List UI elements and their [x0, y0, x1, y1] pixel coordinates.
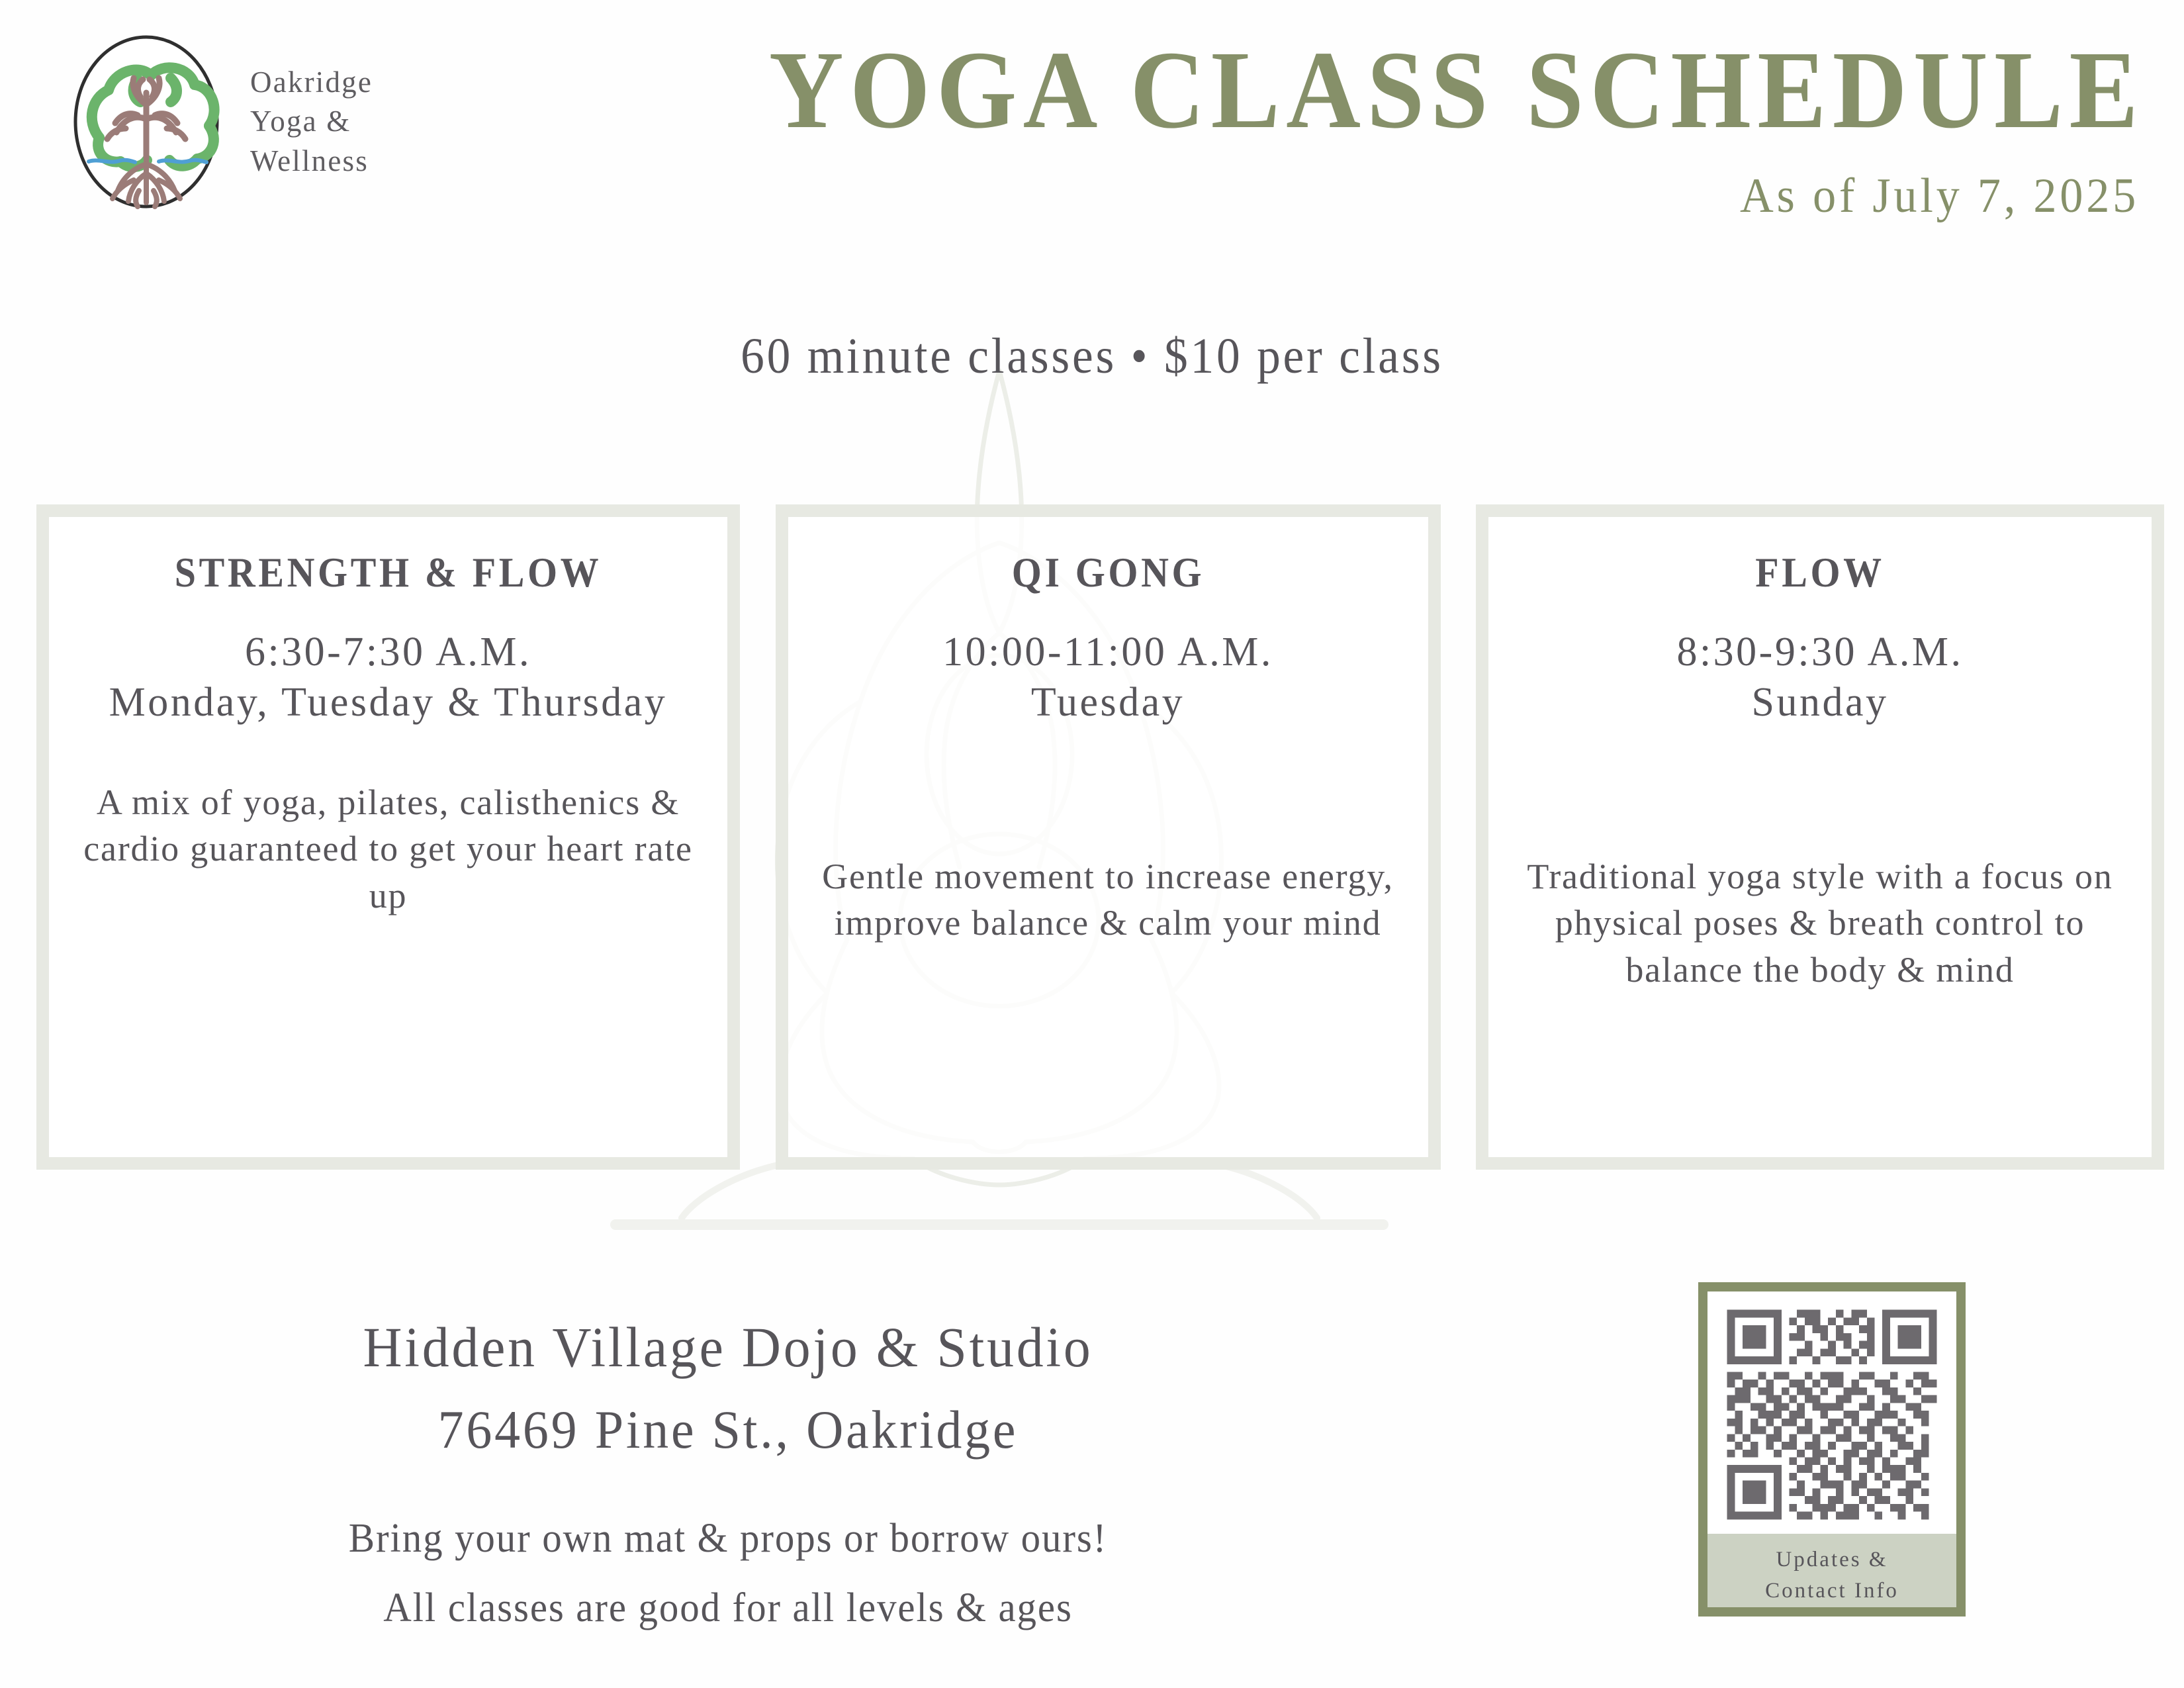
footer-note-mat: Bring your own mat & props or borrow our…	[112, 1515, 1344, 1562]
class-title: STRENGTH & FLOW	[97, 549, 679, 597]
brand-name-line-2: Yoga &	[250, 102, 373, 141]
tagline: 60 minute classes • $10 per class	[66, 328, 2118, 385]
qr-code-block[interactable]: Updates & Contact Info	[1698, 1282, 1966, 1617]
class-card-flow: FLOW 8:30-9:30 A.M. Sunday Traditional y…	[1476, 504, 2164, 1170]
brand-name-line-1: Oakridge	[250, 63, 373, 102]
class-time-range: 10:00-11:00 A.M.	[811, 628, 1406, 678]
brand-logo: Oakridge Yoga & Wellness	[60, 32, 373, 212]
brand-name-line-3: Wellness	[250, 142, 373, 181]
class-time-range: 6:30-7:30 A.M.	[71, 628, 705, 678]
class-time-range: 8:30-9:30 A.M.	[1511, 628, 2129, 678]
title-block: YOGA CLASS SCHEDULE As of July 7, 2025	[622, 34, 2144, 224]
class-days: Monday, Tuesday & Thursday	[71, 678, 705, 728]
qr-caption-line-1: Updates &	[1707, 1544, 1956, 1575]
footer-note-levels: All classes are good for all levels & ag…	[112, 1585, 1344, 1632]
class-card-strength-and-flow: STRENGTH & FLOW 6:30-7:30 A.M. Monday, T…	[36, 504, 740, 1170]
class-description: Traditional yoga style with a focus on p…	[1511, 853, 2129, 993]
class-title: QI GONG	[834, 549, 1381, 597]
qr-caption-line-2: Contact Info	[1707, 1575, 1956, 1607]
venue-address: 76469 Pine St., Oakridge	[112, 1399, 1344, 1461]
page-title: YOGA CLASS SCHEDULE	[729, 34, 2144, 146]
class-days: Tuesday	[811, 678, 1406, 728]
poster-header: Oakridge Yoga & Wellness YOGA CLASS SCHE…	[0, 0, 2184, 265]
qr-caption: Updates & Contact Info	[1707, 1534, 1956, 1607]
class-days: Sunday	[1511, 678, 2129, 728]
class-cards-row: STRENGTH & FLOW 6:30-7:30 A.M. Monday, T…	[36, 504, 2164, 1170]
class-time: 8:30-9:30 A.M. Sunday	[1511, 628, 2129, 727]
qr-code-icon[interactable]	[1707, 1291, 1956, 1534]
brand-name: Oakridge Yoga & Wellness	[250, 63, 373, 181]
as-of-date: As of July 7, 2025	[698, 168, 2139, 224]
venue-name: Hidden Village Dojo & Studio	[112, 1314, 1344, 1380]
tree-of-life-icon	[60, 32, 233, 212]
class-time: 10:00-11:00 A.M. Tuesday	[811, 628, 1406, 727]
class-card-qi-gong: QI GONG 10:00-11:00 A.M. Tuesday Gentle …	[776, 504, 1441, 1170]
poster-canvas: Oakridge Yoga & Wellness YOGA CLASS SCHE…	[0, 0, 2184, 1688]
qr-code-inner: Updates & Contact Info	[1707, 1291, 1956, 1607]
class-description: A mix of yoga, pilates, calisthenics & c…	[71, 779, 705, 919]
class-time: 6:30-7:30 A.M. Monday, Tuesday & Thursda…	[71, 628, 705, 727]
class-title: FLOW	[1535, 549, 2104, 597]
poster-footer: Hidden Village Dojo & Studio 76469 Pine …	[79, 1314, 1377, 1632]
class-description: Gentle movement to increase energy, impr…	[811, 853, 1406, 946]
